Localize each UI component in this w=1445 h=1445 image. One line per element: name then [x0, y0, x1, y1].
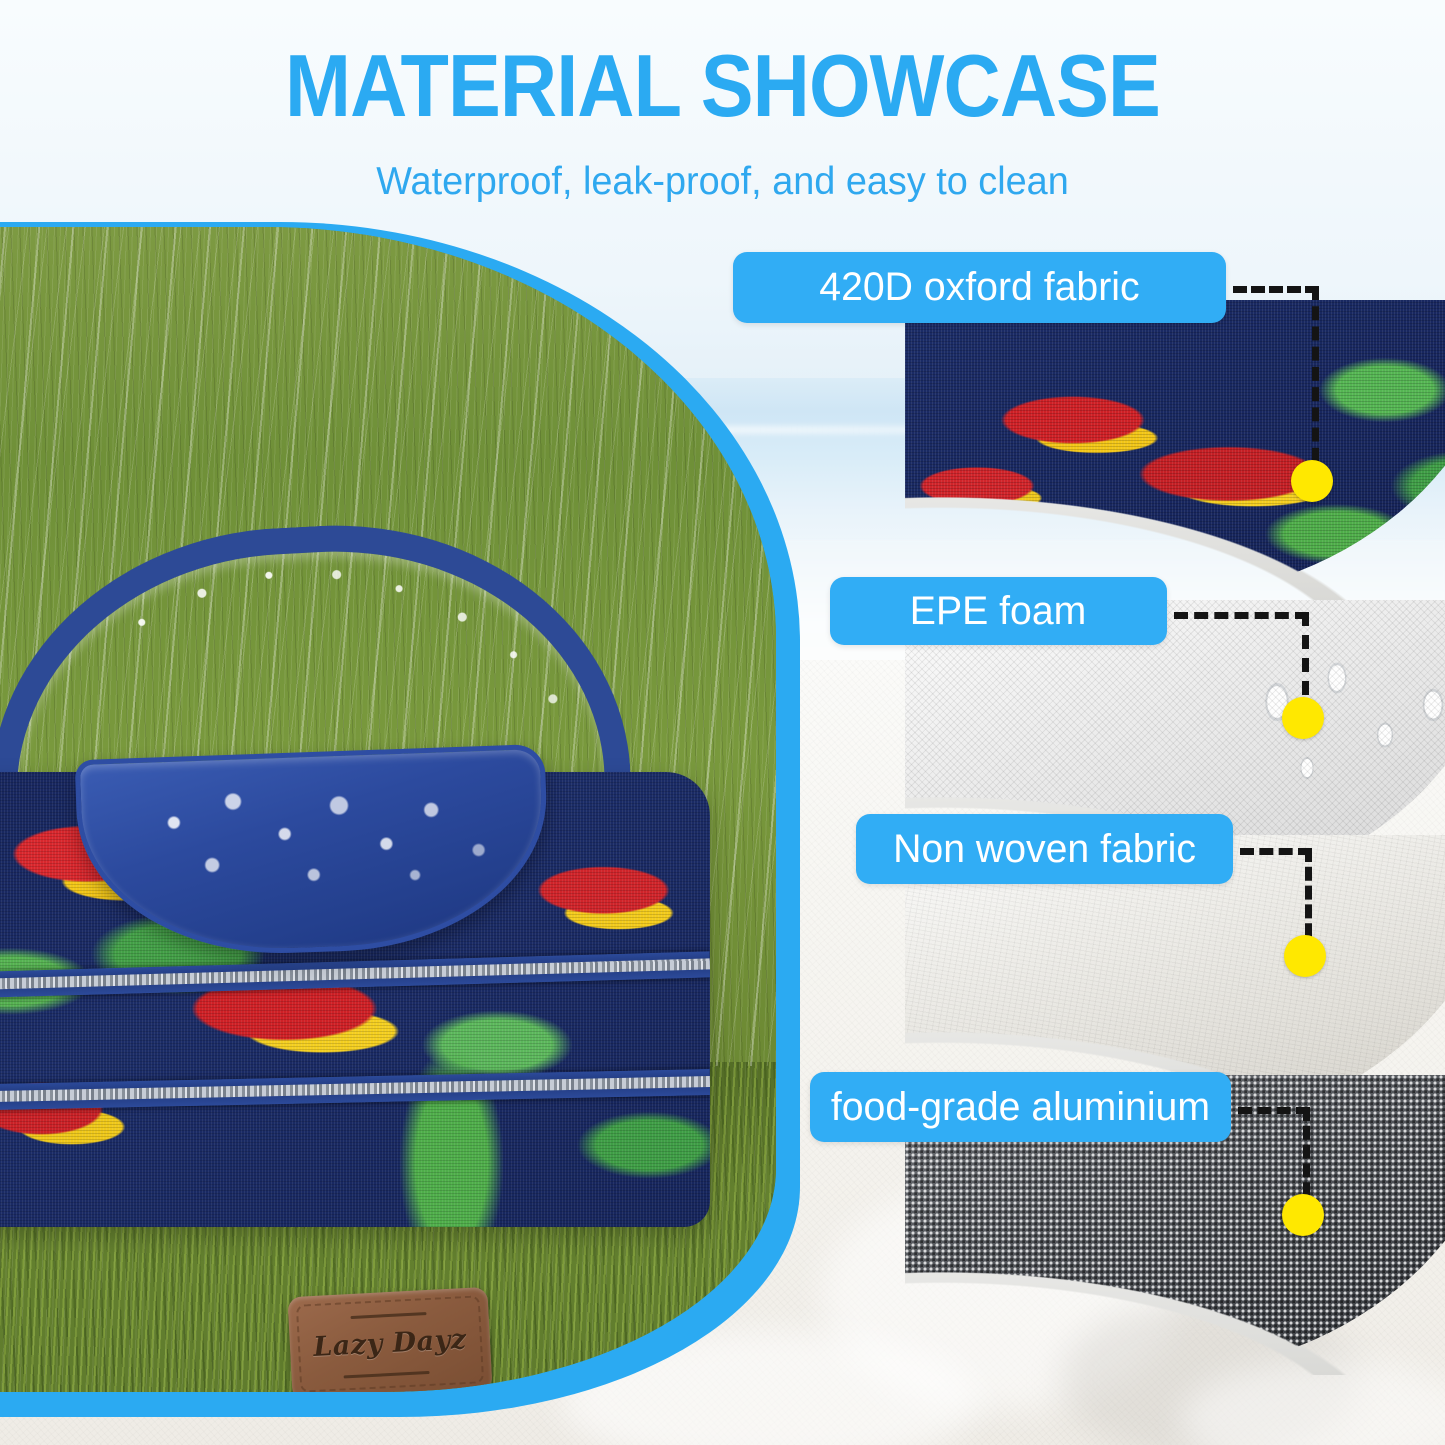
swatch-surface	[905, 300, 1445, 600]
bag-flap	[75, 744, 552, 960]
callout-dot-food-grade-aluminium	[1282, 1194, 1324, 1236]
lunch-bag: Lazy Dayz	[0, 527, 740, 1227]
brand-patch-rule-bottom	[344, 1371, 430, 1378]
callout-label-epe-foam[interactable]: EPE foam	[830, 577, 1167, 645]
infographic-canvas: MATERIAL SHOWCASE Waterproof, leak-proof…	[0, 0, 1445, 1445]
brand-patch: Lazy Dayz	[287, 1287, 492, 1392]
product-photo-frame: Lazy Dayz	[0, 222, 800, 1417]
callout-label-non-woven-fabric[interactable]: Non woven fabric	[856, 814, 1233, 884]
callout-label-text: food-grade aluminium	[831, 1085, 1210, 1130]
connector-oxford-fabric	[1233, 286, 1319, 482]
brand-name: Lazy Dayz	[289, 1323, 490, 1364]
page-title: MATERIAL SHOWCASE	[72, 42, 1373, 130]
callout-dot-non-woven-fabric	[1284, 935, 1326, 977]
connector-horizontal-segment	[1238, 1107, 1310, 1114]
product-photo: Lazy Dayz	[0, 227, 776, 1392]
connector-horizontal-segment	[1233, 286, 1319, 293]
connector-horizontal-segment	[1240, 848, 1312, 855]
callout-dot-oxford-fabric	[1291, 460, 1333, 502]
connector-vertical-segment	[1312, 286, 1319, 482]
callout-label-text: 420D oxford fabric	[819, 265, 1139, 310]
callout-dot-epe-foam	[1282, 697, 1324, 739]
page-subtitle: Waterproof, leak-proof, and easy to clea…	[22, 160, 1424, 204]
callout-label-food-grade-aluminium[interactable]: food-grade aluminium	[810, 1072, 1231, 1142]
connector-horizontal-segment	[1174, 612, 1309, 619]
callout-label-text: Non woven fabric	[893, 827, 1196, 872]
callout-label-oxford-fabric[interactable]: 420D oxford fabric	[733, 252, 1226, 323]
brand-patch-rule-top	[350, 1312, 426, 1319]
swatch-oxford-fabric	[905, 300, 1445, 600]
callout-label-text: EPE foam	[910, 589, 1086, 634]
